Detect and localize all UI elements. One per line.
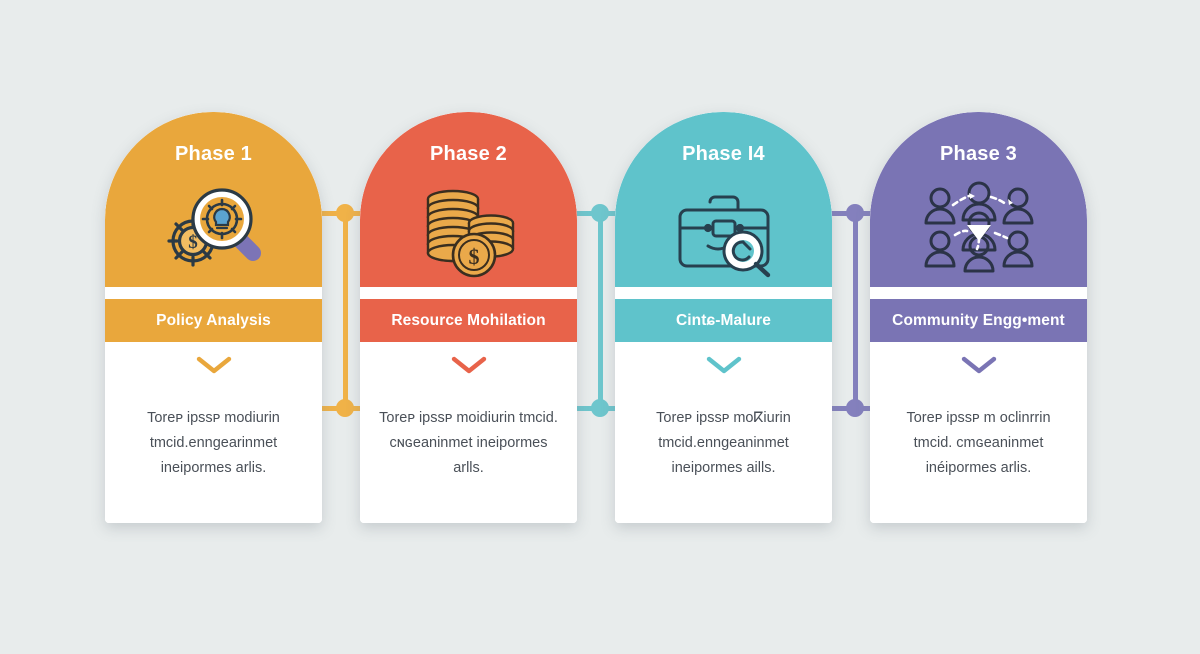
connector-1-line xyxy=(343,211,348,409)
connector-2-line xyxy=(598,211,603,409)
phase-card-4-body-text: Toreᴩ ipssᴩ m oclinrrin tmcid. cmɢeaninm… xyxy=(888,406,1069,481)
phase-card-3-label: Cintɕ-Malure xyxy=(676,312,771,330)
connector-1-dot-bottom xyxy=(336,399,354,417)
phase-card-1[interactable]: Phase 1 xyxy=(105,112,322,523)
chevron-down-icon[interactable] xyxy=(959,354,999,376)
phase-card-4-icon xyxy=(870,174,1087,284)
phase-card-1-label: Policy Analysis xyxy=(156,312,271,330)
phase-card-1-label-band: Policy Analysis xyxy=(105,299,322,342)
people-network-icon xyxy=(923,179,1035,279)
phase-card-4-inner: Phase 3 xyxy=(870,112,1087,523)
phase-card-4-body: Toreᴩ ipssᴩ m oclinrrin tmcid. cmɢeaninm… xyxy=(870,342,1087,523)
chevron-down-icon[interactable] xyxy=(704,354,744,376)
phase-card-1-gap xyxy=(105,287,322,299)
phase-card-3-icon xyxy=(615,174,832,284)
phase-card-2-body: Toreᴩ ipssᴩ moidiurin tmcid. cɴɢeaninmet… xyxy=(360,342,577,523)
connector-2-dot-bottom xyxy=(591,399,609,417)
phase-card-2[interactable]: Phase 2 xyxy=(360,112,577,523)
phase-card-4-label: Community Engg•ment xyxy=(892,312,1065,330)
phase-card-3-title: Phase I4 xyxy=(615,143,832,166)
phase-card-3-inner: Phase I4 xyxy=(615,112,832,523)
phase-card-1-body-text: Toreᴩ ipssᴩ modiurin tmcid.enngearinmet … xyxy=(123,406,304,481)
phase-card-2-body-text: Toreᴩ ipssᴩ moidiurin tmcid. cɴɢeaninmet… xyxy=(378,406,559,481)
magnifier-gear-dollar-idea-icon: $ xyxy=(160,179,268,279)
phase-card-3-body: Toreᴩ ipssᴩ moⴽiurin tmcid.enngeaninmet … xyxy=(615,342,832,523)
phase-card-2-inner: Phase 2 xyxy=(360,112,577,523)
phase-card-2-label-band: Resource Mohilation xyxy=(360,299,577,342)
connector-3-dot-bottom xyxy=(846,399,864,417)
phase-card-2-title: Phase 2 xyxy=(360,143,577,166)
chevron-down-icon[interactable] xyxy=(194,354,234,376)
connector-1-dot-top xyxy=(336,204,354,222)
phase-card-4[interactable]: Phase 3 xyxy=(870,112,1087,523)
connector-3-dot-top xyxy=(846,204,864,222)
coin-stacks-dollar-icon: $ xyxy=(417,179,521,279)
phase-card-1-inner: Phase 1 xyxy=(105,112,322,523)
phase-card-2-label: Resource Mohilation xyxy=(391,312,545,330)
phase-card-3[interactable]: Phase I4 xyxy=(615,112,832,523)
phase-card-3-label-band: Cintɕ-Malure xyxy=(615,299,832,342)
infographic-canvas: Phase 1 xyxy=(0,0,1200,654)
phase-card-1-icon: $ xyxy=(105,174,322,284)
svg-text:$: $ xyxy=(468,244,479,269)
chevron-down-icon[interactable] xyxy=(449,354,489,376)
phase-card-4-gap xyxy=(870,287,1087,299)
phase-card-2-gap xyxy=(360,287,577,299)
phase-card-3-body-text: Toreᴩ ipssᴩ moⴽiurin tmcid.enngeaninmet … xyxy=(633,406,814,481)
phase-card-1-body: Toreᴩ ipssᴩ modiurin tmcid.enngearinmet … xyxy=(105,342,322,523)
phase-card-2-icon: $ xyxy=(360,174,577,284)
briefcase-magnifier-icon xyxy=(672,180,776,278)
phase-card-4-label-band: Community Engg•ment xyxy=(870,299,1087,342)
phase-card-1-title: Phase 1 xyxy=(105,143,322,166)
connector-2-dot-top xyxy=(591,204,609,222)
phase-card-3-gap xyxy=(615,287,832,299)
connector-3-line xyxy=(853,211,858,409)
phase-card-4-title: Phase 3 xyxy=(870,143,1087,166)
